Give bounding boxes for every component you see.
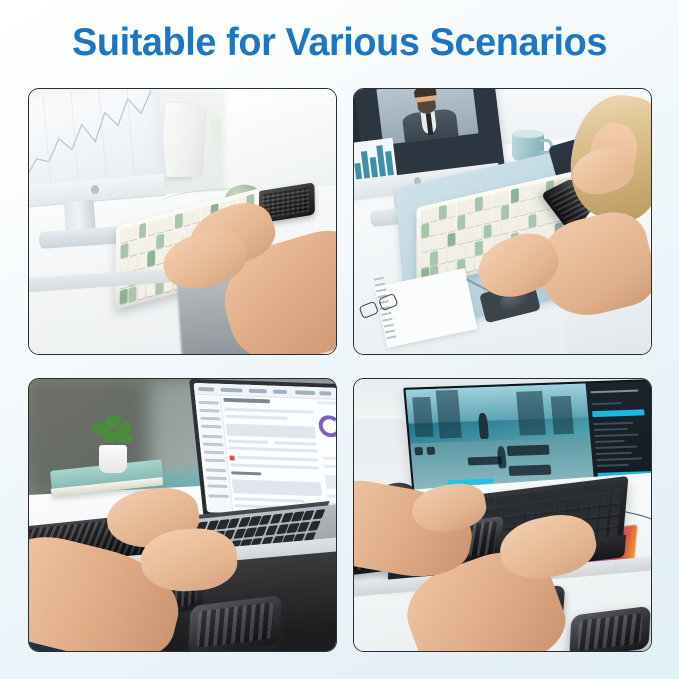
scenario-panel-home-office[interactable] xyxy=(28,88,337,355)
game-hud-box xyxy=(468,456,503,465)
scenario-panel-gaming[interactable] xyxy=(353,378,652,652)
game-hud-icon xyxy=(427,447,436,455)
game-building xyxy=(551,396,574,435)
game-building xyxy=(412,397,433,437)
home-office-photo xyxy=(29,89,336,354)
dashboard-app xyxy=(194,383,336,517)
video-conference-photo xyxy=(354,89,651,354)
game-scene xyxy=(405,383,594,493)
gaming-photo xyxy=(354,379,651,651)
scenario-panel-video-conference[interactable] xyxy=(353,88,652,355)
game-hud-box xyxy=(507,445,550,456)
laptop-screen xyxy=(194,383,336,517)
plant-leaves-icon xyxy=(89,415,141,451)
game-hud-icon xyxy=(415,447,424,455)
mug-rim xyxy=(512,130,544,138)
page-title: Suitable for Various Scenarios xyxy=(10,20,669,66)
app-content-tables xyxy=(223,398,326,517)
participant-video-tile xyxy=(376,89,478,145)
game-building xyxy=(436,390,462,439)
scenario-panel-laptop-work[interactable] xyxy=(28,378,337,652)
laptop-work-photo xyxy=(29,379,336,651)
game-hud-box xyxy=(509,465,552,476)
game-building xyxy=(516,391,546,436)
book-stack-icon xyxy=(211,119,221,175)
scenario-panel-grid xyxy=(28,88,652,652)
